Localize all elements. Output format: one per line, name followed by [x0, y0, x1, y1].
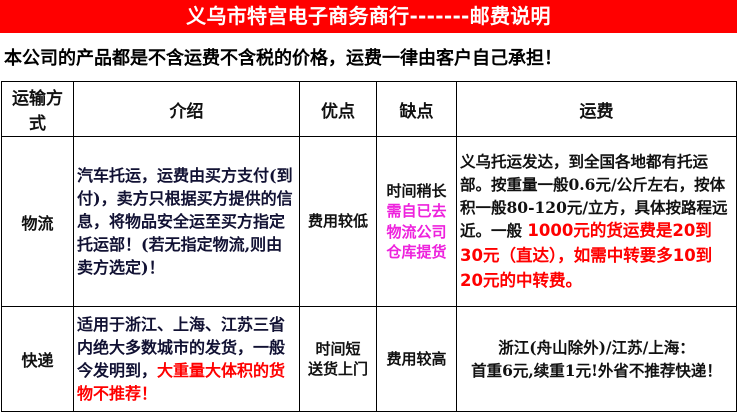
subtitle-row: 本公司的产品都是不含运费不含税的价格，运费一律由客户自己承担！ [0, 33, 737, 81]
row-pros-logistics: 费用较低 [300, 137, 377, 307]
column-header-intro: 介绍 [74, 82, 300, 137]
row-cons-logistics: 时间稍长 需自已去物流公司仓库提货 [377, 137, 457, 307]
shipping-fee-table: 运输方式 介绍 优点 缺点 运费 物流 汽车托运，运费由买方支付(到付)，卖方只… [1, 81, 737, 412]
subtitle-text: 本公司的产品都是不含运费不含税的价格，运费一律由客户自己承担！ [4, 44, 562, 70]
row-intro-logistics: 汽车托运，运费由买方支付(到付)，卖方只根据买方提供的信息，将物品安全运至买方指… [74, 137, 300, 307]
fee-line-1: 浙江(舟山除外)/江苏/上海： [460, 336, 733, 359]
table-header: 运输方式 介绍 优点 缺点 运费 [2, 82, 737, 137]
pros-line-1: 时间短 [303, 339, 373, 359]
pros-line-2: 送货上门 [303, 359, 373, 379]
table-body: 物流 汽车托运，运费由买方支付(到付)，卖方只根据买方提供的信息，将物品安全运至… [2, 137, 737, 412]
cons-primary-text: 时间稍长 [380, 181, 453, 201]
table-header-row: 运输方式 介绍 优点 缺点 运费 [2, 82, 737, 137]
column-header-fee: 运费 [457, 82, 737, 137]
column-header-mode: 运输方式 [2, 82, 74, 137]
table-row: 快递 适用于浙江、上海、江苏三省内绝大多数城市的发货，一般今发明到，大重量大体积… [2, 307, 737, 412]
row-cons-express: 费用较高 [377, 307, 457, 412]
shipping-fee-page: 义乌市特宫电子商务商行-------邮费说明 本公司的产品都是不含运费不含税的价… [0, 0, 737, 407]
row-mode-express: 快递 [2, 307, 74, 412]
table-row: 物流 汽车托运，运费由买方支付(到付)，卖方只根据买方提供的信息，将物品安全运至… [2, 137, 737, 307]
column-header-cons: 缺点 [377, 82, 457, 137]
row-fee-logistics: 义乌托运发达，到全国各地都有托运部。按重量一般0.6元/公斤左右，按体积一般80… [457, 137, 737, 307]
page-title: 义乌市特宫电子商务商行-------邮费说明 [186, 0, 551, 33]
row-mode-logistics: 物流 [2, 137, 74, 307]
fee-line-2: 首重6元,续重1元!外省不推荐快递！ [460, 359, 733, 382]
row-pros-express: 时间短 送货上门 [300, 307, 377, 412]
row-fee-express: 浙江(舟山除外)/江苏/上海： 首重6元,续重1元!外省不推荐快递！ [457, 307, 737, 412]
title-banner: 义乌市特宫电子商务商行-------邮费说明 [0, 0, 737, 33]
column-header-pros: 优点 [300, 82, 377, 137]
cons-highlight-text: 需自已去物流公司仓库提货 [380, 201, 453, 262]
row-intro-express: 适用于浙江、上海、江苏三省内绝大多数城市的发货，一般今发明到，大重量大体积的货物… [74, 307, 300, 412]
